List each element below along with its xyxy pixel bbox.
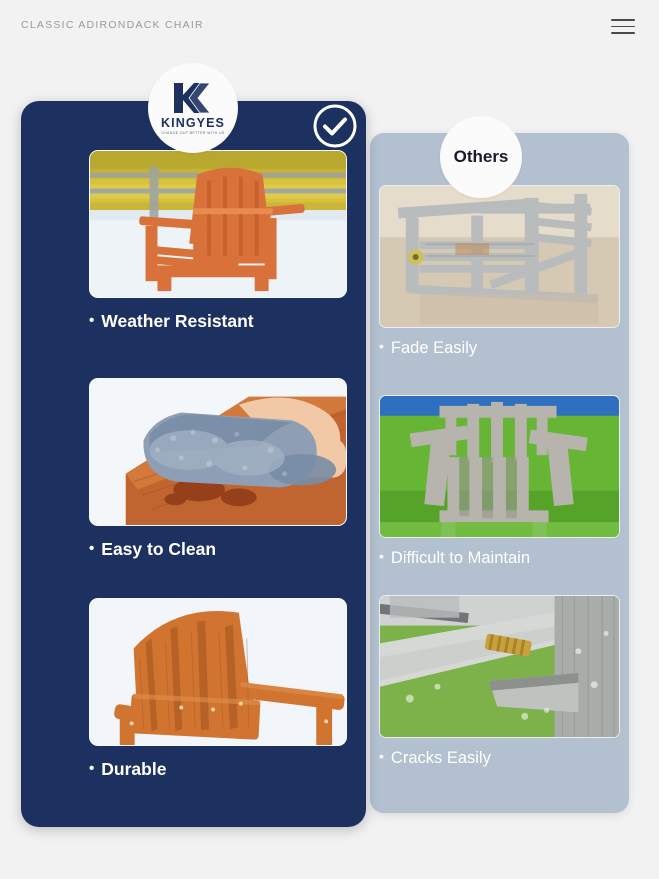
others-bubble: Others [440,116,522,198]
cracked-gray-armrest-with-screw-image [379,595,620,738]
kingyes-label-3: •Durable [89,759,347,780]
kingyes-label-3-text: Durable [101,759,166,779]
others-label-1: •Fade Easily [379,338,620,358]
bullet-icon: • [89,760,94,777]
others-label-3: •Cracks Easily [379,748,620,768]
top-bar: CLASSIC ADIRONDACK CHAIR [0,0,659,52]
bullet-icon: • [379,548,384,564]
faded-gray-chair-on-sand-image [379,185,620,328]
others-label-2-text: Difficult to Maintain [391,549,530,567]
others-row-2: •Difficult to Maintain [379,395,620,568]
kingyes-row-2: •Easy to Clean [89,378,347,560]
hamburger-menu-icon[interactable] [611,19,635,35]
orange-chair-fan-back-closeup-image [89,598,347,746]
kingyes-row-3: •Durable [89,598,347,780]
kingyes-label-1-text: Weather Resistant [101,311,253,331]
check-circle-icon[interactable] [312,103,358,149]
brand-bubble: KINGYES CHANGE OUT BETTER WITH US [148,63,238,153]
others-label-3-text: Cracks Easily [391,749,491,767]
others-label-1-text: Fade Easily [391,339,477,357]
bullet-icon: • [89,540,94,557]
weathered-gray-chair-on-grass-image [379,395,620,538]
hand-wiping-chair-arm-with-towel-image [89,378,347,526]
kingyes-panel: •Weather Resistant [21,101,366,827]
brand-name: KINGYES [161,116,225,130]
kingyes-row-1: •Weather Resistant [89,150,347,332]
orange-adirondack-chair-in-snow-image [89,150,347,298]
page-title: CLASSIC ADIRONDACK CHAIR [21,19,204,31]
bullet-icon: • [379,338,384,354]
kingyes-label-2-text: Easy to Clean [101,539,216,559]
others-title: Others [454,147,509,167]
product-comparison-infographic: CLASSIC ADIRONDACK CHAIR [0,0,659,879]
bullet-icon: • [89,312,94,329]
others-row-3: •Cracks Easily [379,595,620,768]
kingyes-label-2: •Easy to Clean [89,539,347,560]
others-panel: •Fade Easily [370,133,629,813]
bullet-icon: • [379,748,384,764]
kingyes-label-1: •Weather Resistant [89,311,347,332]
others-row-1: •Fade Easily [379,185,620,358]
kingyes-k-logo-icon [170,81,216,115]
others-label-2: •Difficult to Maintain [379,548,620,568]
brand-tagline: CHANGE OUT BETTER WITH US [161,131,224,135]
